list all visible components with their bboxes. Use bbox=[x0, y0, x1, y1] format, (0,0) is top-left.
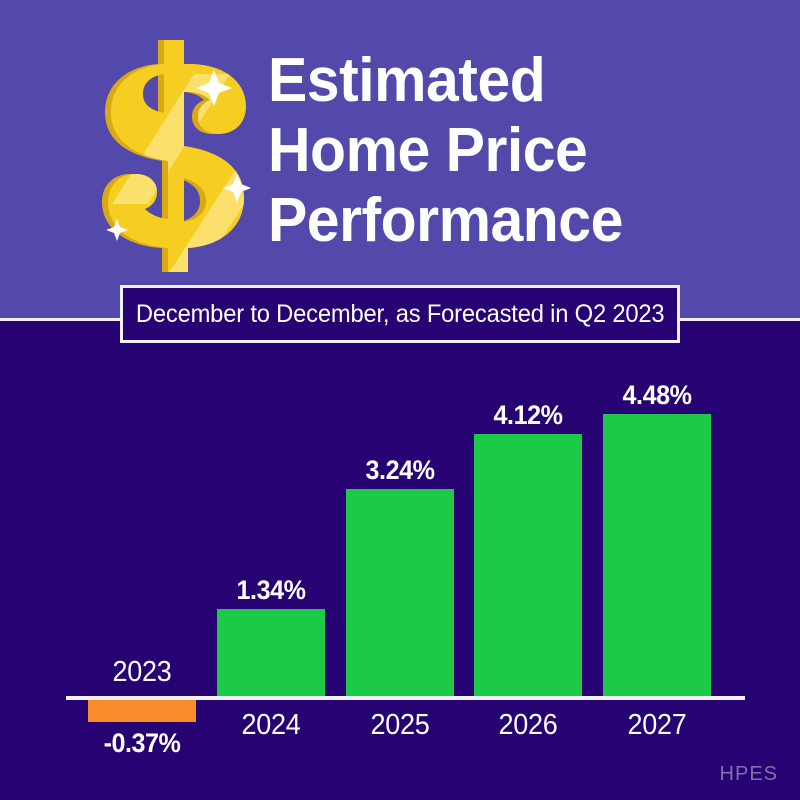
value-label-2026: 4.12% bbox=[472, 400, 584, 431]
bar-2026 bbox=[474, 434, 582, 696]
infographic-root: Estimated Home Price Performance Decembe… bbox=[0, 0, 800, 800]
title-line-3: Performance bbox=[268, 186, 715, 256]
value-label-2024: 1.34% bbox=[215, 575, 327, 606]
zero-baseline-axis bbox=[66, 696, 745, 700]
title-line-2: Home Price bbox=[268, 116, 715, 186]
bar-2025 bbox=[346, 489, 454, 696]
subtitle-text: December to December, as Forecasted in Q… bbox=[136, 300, 665, 329]
bar-2023 bbox=[88, 700, 196, 722]
watermark-label: HPES bbox=[720, 763, 778, 786]
category-label-2027: 2027 bbox=[601, 709, 713, 742]
category-label-2025: 2025 bbox=[344, 709, 456, 742]
category-label-2024: 2024 bbox=[215, 709, 327, 742]
page-title: Estimated Home Price Performance bbox=[268, 46, 738, 256]
bar-2024 bbox=[217, 609, 325, 696]
category-label-2026: 2026 bbox=[472, 709, 584, 742]
bar-2027 bbox=[603, 414, 711, 696]
bar-chart: 2023 -0.37% 2024 1.34% 2025 3.24% 2026 4… bbox=[0, 343, 800, 800]
value-label-2025: 3.24% bbox=[344, 455, 456, 486]
title-line-1: Estimated bbox=[268, 46, 715, 116]
value-label-2023: -0.37% bbox=[86, 728, 198, 759]
dollar-sign-icon bbox=[96, 34, 256, 274]
category-label-2023: 2023 bbox=[86, 656, 198, 689]
subtitle-banner: December to December, as Forecasted in Q… bbox=[120, 285, 680, 343]
value-label-2027: 4.48% bbox=[601, 380, 713, 411]
